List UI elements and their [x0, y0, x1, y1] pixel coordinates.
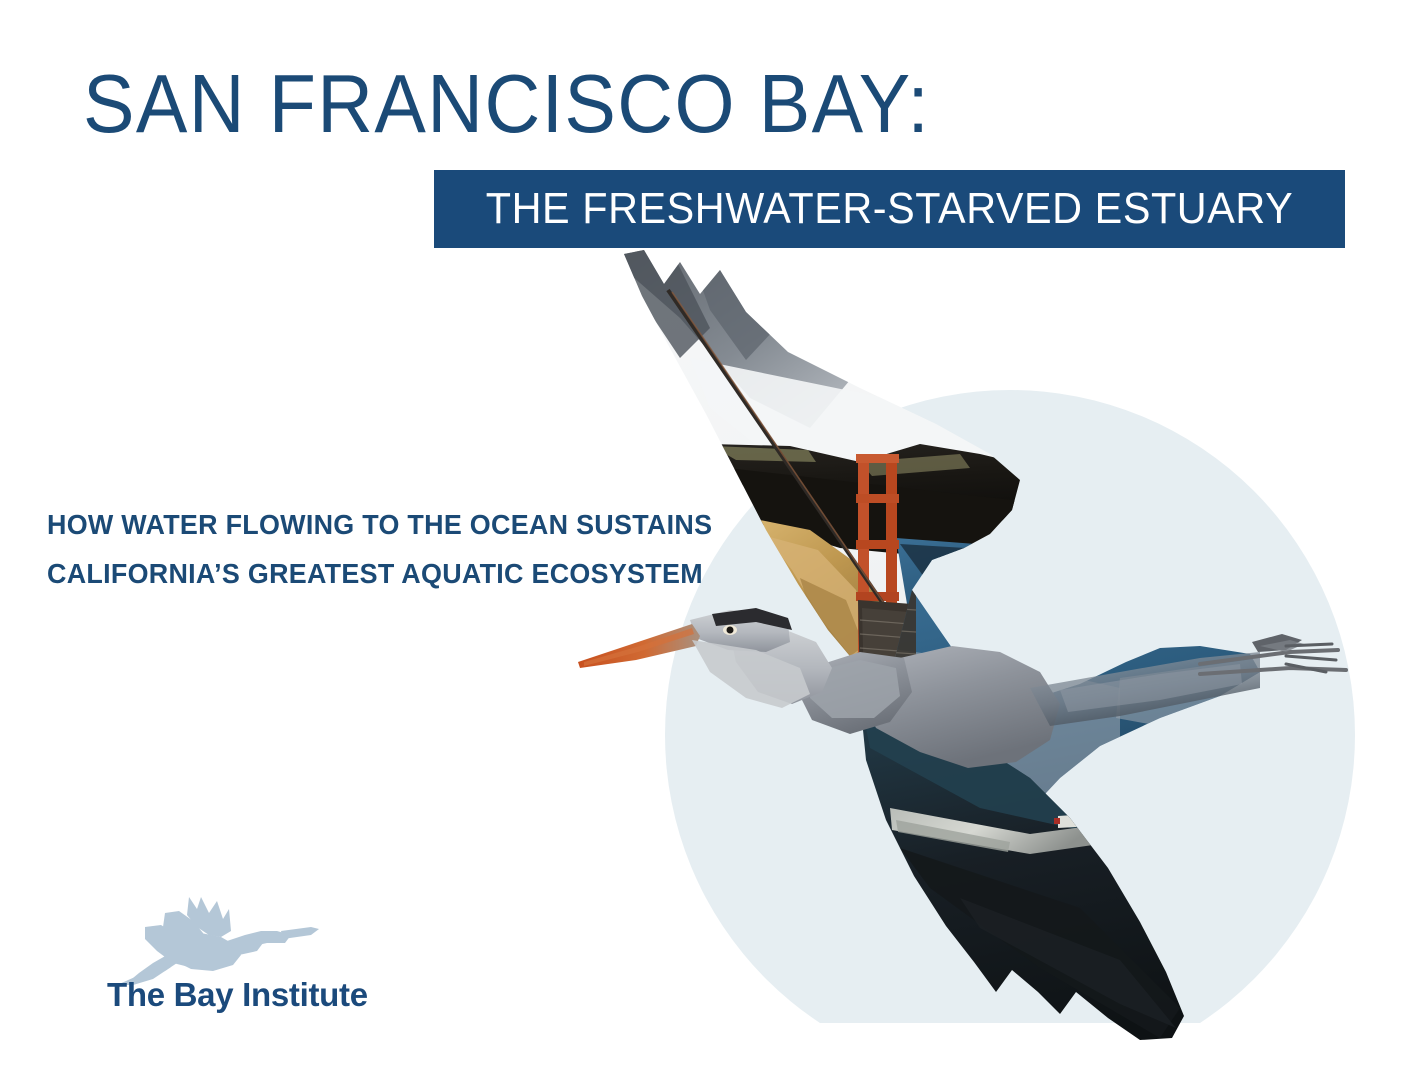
subtitle-line-2: CALIFORNIA’S GREATEST AQUATIC ECOSYSTEM: [47, 549, 712, 598]
banner-text: THE FRESHWATER-STARVED ESTUARY: [486, 186, 1293, 232]
subtitle-line-1: HOW WATER FLOWING TO THE OCEAN SUSTAINS: [47, 500, 712, 549]
logo-wordmark: The Bay Institute: [107, 977, 368, 1013]
hero-image: [560, 248, 1350, 1048]
organization-logo: The Bay Institute: [105, 893, 395, 1023]
heron-golden-gate-double-exposure: [560, 248, 1350, 1048]
subtitle-banner: THE FRESHWATER-STARVED ESTUARY: [434, 170, 1345, 248]
cover-page: SAN FRANCISCO BAY: THE FRESHWATER-STARVE…: [0, 0, 1408, 1088]
subtitle-block: HOW WATER FLOWING TO THE OCEAN SUSTAINS …: [47, 500, 740, 598]
heron-in-flight-icon: [105, 893, 320, 985]
page-title: SAN FRANCISCO BAY:: [83, 62, 930, 146]
heron-body: [578, 608, 1060, 768]
